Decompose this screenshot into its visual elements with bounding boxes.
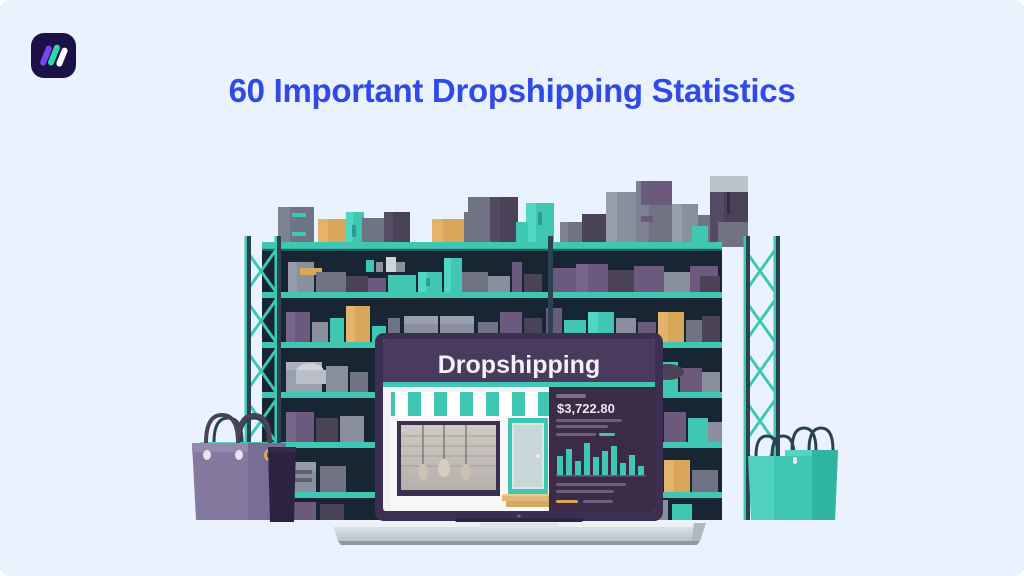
poster-canvas: 60 Important Dropshipping Statistics (0, 0, 1024, 576)
top-row-boxes (278, 176, 762, 247)
storefront-sign-text: Dropshipping (438, 351, 600, 379)
stat-panel: $3,722.80 (549, 387, 655, 511)
svg-text:$3,722.80: $3,722.80 (557, 401, 615, 416)
right-shopping-bags (748, 428, 838, 520)
laptop: $3,722.80 (332, 333, 706, 545)
storefront-awning (391, 392, 549, 420)
laptop-camera-icon (517, 514, 520, 517)
dropshipping-warehouse-illustration: $3,722.80 (0, 0, 1024, 576)
